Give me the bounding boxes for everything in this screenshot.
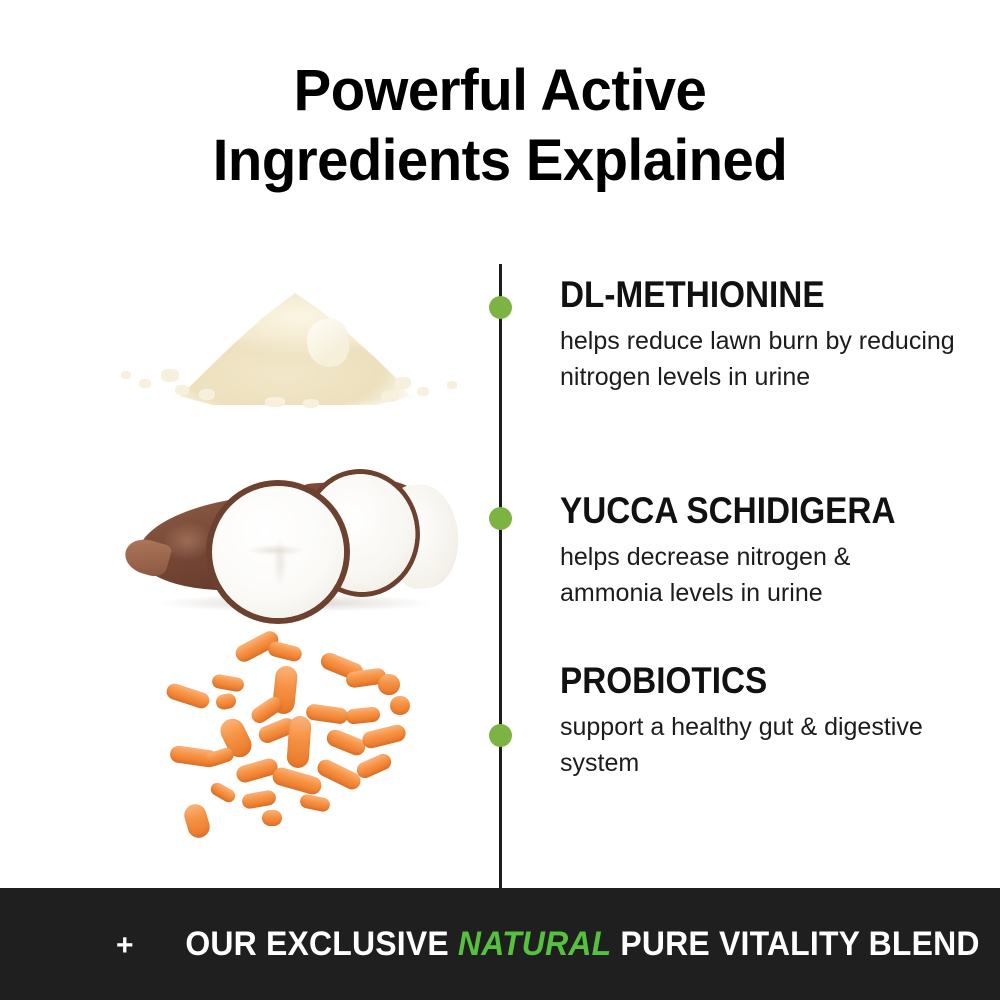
powder-crumb <box>395 377 411 389</box>
banner-prefix: OUR EXCLUSIVE <box>185 925 458 963</box>
ingredient-item-yucca-schidigera: YUCCA SCHIDIGERA helps decrease nitrogen… <box>560 492 960 611</box>
probiotic-rod <box>324 727 367 758</box>
probiotics-photo <box>150 630 450 840</box>
plus-icon: + <box>116 929 134 963</box>
ingredient-item-probiotics: PROBIOTICS support a healthy gut & diges… <box>560 662 960 781</box>
ingredient-heading: PROBIOTICS <box>560 662 920 701</box>
probiotic-rod <box>345 706 380 724</box>
powder-crumb <box>199 389 215 400</box>
powder-crumb <box>265 397 285 407</box>
yucca-root-photo <box>120 462 490 627</box>
timeline-bullet-dl-methionine <box>489 296 512 319</box>
probiotic-rod <box>182 802 213 840</box>
powder-mound <box>180 293 410 405</box>
probiotic-rod <box>262 810 282 826</box>
powder-crumb <box>417 387 429 396</box>
powder-crumb <box>139 379 151 388</box>
probiotic-rod <box>286 715 312 768</box>
ingredient-description: helps reduce lawn burn by reducing nitro… <box>560 323 960 395</box>
timeline-bullet-probiotics <box>489 724 512 747</box>
banner-accent-word: NATURAL <box>457 925 610 963</box>
powder-crumb <box>175 385 189 395</box>
ingredient-description: helps decrease nitrogen & ammonia levels… <box>560 539 960 611</box>
banner-suffix: PURE VITALITY BLEND <box>611 925 979 963</box>
powder-crumb <box>121 371 131 379</box>
probiotic-rod <box>215 692 238 711</box>
powder-crumb <box>447 381 457 389</box>
banner-content: + OUR EXCLUSIVE NATURAL PURE VITALITY BL… <box>116 925 1000 964</box>
ingredient-item-dl-methionine: DL-METHIONINE helps reduce lawn burn by … <box>560 276 960 395</box>
powder-crumb <box>381 391 399 402</box>
probiotic-rod <box>267 640 304 663</box>
probiotic-rod <box>165 682 212 711</box>
powder-photo <box>95 285 485 425</box>
ingredient-heading: YUCCA SCHIDIGERA <box>560 492 920 531</box>
powder-crumb <box>303 399 319 408</box>
bottom-banner: + OUR EXCLUSIVE NATURAL PURE VITALITY BL… <box>0 888 1000 1000</box>
ingredient-description: support a healthy gut & digestive system <box>560 709 960 781</box>
probiotic-rod <box>305 703 349 725</box>
probiotic-rod <box>208 780 237 804</box>
page-title: Powerful Active Ingredients Explained <box>0 62 1000 190</box>
title-line-2: Ingredients Explained <box>15 132 985 190</box>
timeline-bullet-yucca-schidigera <box>489 507 512 530</box>
probiotic-rod <box>270 765 323 796</box>
yucca-slice-grain <box>228 506 328 602</box>
timeline-line <box>499 264 502 888</box>
banner-tagline: OUR EXCLUSIVE NATURAL PURE VITALITY BLEN… <box>185 925 979 964</box>
probiotic-rod <box>390 696 410 715</box>
probiotic-rod <box>378 674 400 695</box>
probiotic-rod <box>354 751 393 780</box>
infographic-page: Powerful Active Ingredients Explained <box>0 0 1000 1000</box>
probiotic-rod <box>241 789 277 810</box>
probiotic-rod <box>315 757 364 792</box>
powder-crumb <box>161 369 179 382</box>
probiotic-rod <box>299 793 331 813</box>
probiotic-rod <box>361 723 408 750</box>
ingredient-heading: DL-METHIONINE <box>560 276 920 315</box>
probiotic-rod <box>211 673 245 692</box>
title-line-1: Powerful Active <box>15 62 985 120</box>
